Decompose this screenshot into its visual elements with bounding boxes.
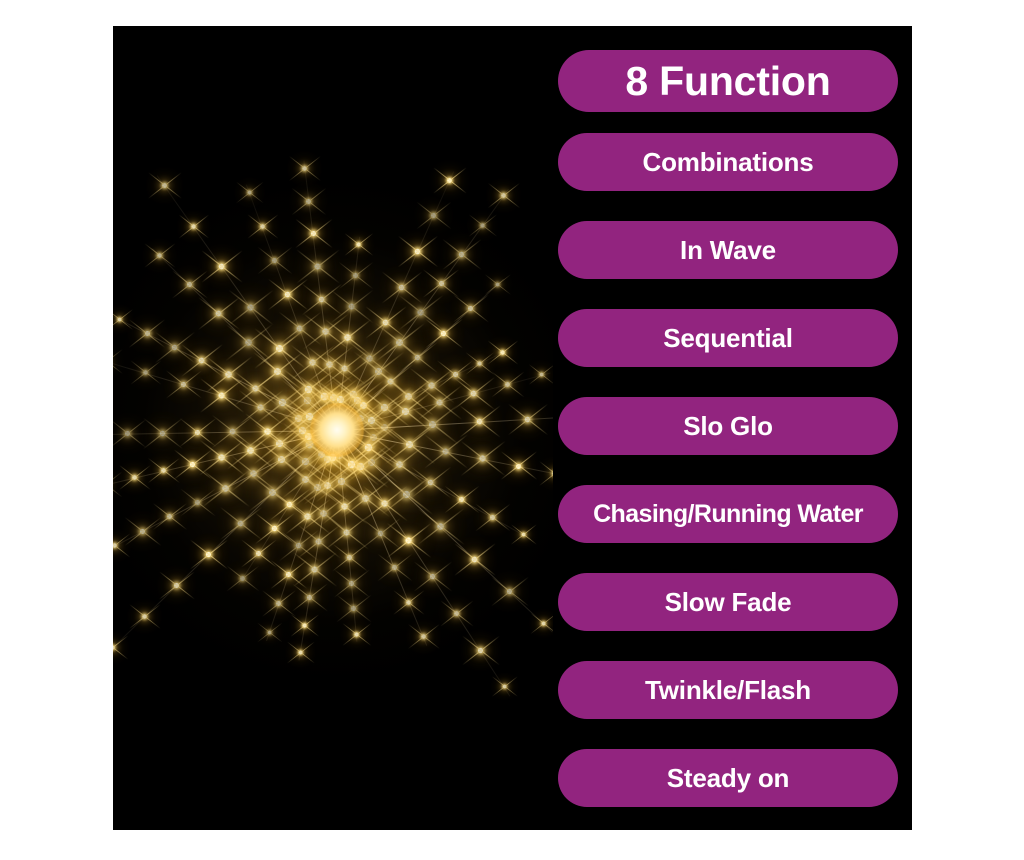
light-bulb bbox=[326, 361, 332, 367]
panel-title-badge: 8 Function bbox=[558, 50, 898, 112]
light-bulb bbox=[521, 533, 525, 537]
light-bulb bbox=[257, 404, 263, 410]
light-bulb bbox=[324, 482, 331, 489]
light-bulb bbox=[429, 382, 435, 388]
light-bulb bbox=[295, 543, 300, 548]
light-bulb bbox=[370, 434, 377, 441]
light-bulb bbox=[459, 252, 464, 257]
light-bulb bbox=[447, 178, 452, 183]
light-bulb bbox=[406, 441, 413, 448]
light-bulb bbox=[302, 476, 309, 483]
light-bulb bbox=[453, 372, 458, 377]
light-bulb bbox=[321, 392, 329, 400]
light-bulb bbox=[143, 371, 147, 375]
light-bulb bbox=[276, 601, 281, 606]
light-bulb bbox=[375, 368, 382, 375]
light-bulb bbox=[284, 292, 290, 298]
light-bulb bbox=[341, 503, 347, 509]
light-stage bbox=[113, 26, 553, 830]
light-bulb bbox=[310, 231, 315, 236]
light-bulb bbox=[357, 463, 365, 471]
light-bulb bbox=[478, 648, 483, 653]
light-bulb bbox=[250, 470, 256, 476]
light-bulb bbox=[125, 431, 130, 436]
light-bulb bbox=[344, 529, 350, 535]
light-bulb bbox=[245, 339, 252, 346]
light-bulb bbox=[320, 510, 326, 516]
light-bulb bbox=[338, 477, 345, 484]
light-bulb bbox=[240, 576, 245, 581]
light-ray bbox=[113, 359, 337, 431]
light-bulb bbox=[303, 623, 307, 627]
light-bulb bbox=[191, 224, 195, 228]
light-bulb bbox=[501, 350, 505, 354]
light-bulb bbox=[368, 459, 375, 466]
light-bulb bbox=[307, 595, 312, 600]
light-bulb bbox=[271, 526, 276, 531]
light-bulb bbox=[524, 416, 530, 422]
light-bulb bbox=[468, 306, 473, 311]
light-bulb bbox=[256, 551, 261, 556]
light-bulb bbox=[298, 427, 306, 435]
light-bulb bbox=[309, 359, 315, 365]
light-bulb bbox=[472, 556, 478, 562]
light-bulb bbox=[303, 166, 307, 170]
mode-button-in-wave[interactable]: In Wave bbox=[558, 221, 898, 279]
light-bulb bbox=[140, 529, 145, 534]
light-bulb bbox=[264, 428, 270, 434]
light-bulb bbox=[349, 303, 355, 309]
light-bulb bbox=[143, 614, 147, 618]
light-bulb bbox=[477, 361, 481, 365]
light-bulb bbox=[162, 183, 167, 188]
light-bulb bbox=[269, 489, 276, 496]
light-bulb bbox=[260, 225, 264, 229]
light-bulb bbox=[113, 544, 116, 548]
light-bulb bbox=[314, 264, 320, 270]
light-bulb bbox=[351, 606, 356, 611]
light-bulb bbox=[436, 399, 442, 405]
light-bulb bbox=[439, 281, 444, 286]
light-bulb bbox=[415, 249, 421, 255]
light-bulb bbox=[218, 454, 224, 460]
light-bulb bbox=[305, 514, 311, 520]
light-bulb bbox=[382, 320, 388, 326]
light-bulb bbox=[219, 393, 225, 399]
light-bulb bbox=[471, 390, 477, 396]
light-bulb bbox=[405, 393, 412, 400]
light-bulb bbox=[399, 284, 405, 290]
mode-button-slow-fade[interactable]: Slow Fade bbox=[558, 573, 898, 631]
light-bulb bbox=[295, 415, 302, 422]
light-bulb bbox=[507, 589, 512, 594]
light-bulb bbox=[392, 565, 397, 570]
light-bulb bbox=[354, 632, 358, 636]
light-bulb bbox=[396, 462, 402, 468]
light-bulb bbox=[377, 530, 382, 535]
light-bulb bbox=[429, 421, 436, 428]
mode-button-slo-glo[interactable]: Slo Glo bbox=[558, 397, 898, 455]
mode-button-twinkle-flash[interactable]: Twinkle/Flash bbox=[558, 661, 898, 719]
light-bulb bbox=[187, 282, 192, 287]
function-mode-panel: 8 Function CombinationsIn WaveSequential… bbox=[558, 26, 912, 830]
light-bulb bbox=[477, 419, 483, 425]
light-bulb bbox=[275, 440, 282, 447]
light-bulb bbox=[279, 399, 287, 407]
light-bulb bbox=[181, 382, 186, 387]
light-bulb bbox=[286, 572, 291, 577]
light-bulb bbox=[360, 402, 367, 409]
light-bulb bbox=[443, 449, 449, 455]
firework-light-photo bbox=[113, 26, 553, 830]
light-bulb bbox=[382, 500, 388, 506]
light-bulb bbox=[407, 600, 411, 604]
light-bulb bbox=[168, 515, 173, 520]
light-bulb bbox=[387, 379, 393, 385]
light-bulb bbox=[490, 515, 495, 520]
light-bulb bbox=[366, 355, 372, 361]
light-bulb bbox=[316, 538, 322, 544]
light-bulb bbox=[402, 408, 409, 415]
mode-button-sequential[interactable]: Sequential bbox=[558, 309, 898, 367]
light-bulb bbox=[276, 345, 283, 352]
light-bulb bbox=[349, 581, 354, 586]
light-bulb bbox=[481, 223, 485, 227]
light-bulb bbox=[341, 365, 347, 371]
light-bulb bbox=[248, 191, 252, 195]
light-bulb bbox=[314, 484, 321, 491]
mode-button-steady-on[interactable]: Steady on bbox=[558, 749, 898, 807]
light-bulb bbox=[348, 461, 355, 468]
light-bulb bbox=[171, 344, 177, 350]
light-bulb bbox=[206, 551, 211, 556]
light-bulb bbox=[364, 444, 372, 452]
light-bulb bbox=[174, 583, 179, 588]
light-bulb bbox=[301, 457, 308, 464]
light-bulb bbox=[381, 404, 388, 411]
light-bulb bbox=[247, 447, 254, 454]
light-bulb bbox=[195, 500, 200, 505]
light-bulb bbox=[311, 566, 317, 572]
light-bulb bbox=[459, 497, 464, 502]
light-bulb bbox=[353, 273, 358, 278]
product-image-card: 8 Function CombinationsIn WaveSequential… bbox=[113, 26, 912, 830]
light-bulb bbox=[160, 430, 165, 435]
light-bulb bbox=[222, 485, 229, 492]
light-bulb bbox=[516, 464, 521, 469]
light-bulb bbox=[396, 339, 403, 346]
light-bulb bbox=[357, 242, 361, 246]
light-bulb bbox=[347, 555, 352, 560]
light-bulb bbox=[345, 334, 351, 340]
light-bulb bbox=[421, 634, 425, 638]
light-bulb bbox=[157, 253, 161, 257]
light-ray bbox=[337, 430, 511, 697]
light-bulb bbox=[318, 296, 324, 302]
light-bulb bbox=[161, 469, 165, 473]
light-bulb bbox=[414, 355, 419, 360]
light-bulb bbox=[322, 329, 328, 335]
light-bulb bbox=[540, 373, 544, 377]
mode-button-chasing-running-water[interactable]: Chasing/Running Water bbox=[558, 485, 898, 543]
light-bulb bbox=[132, 475, 136, 479]
light-bulb bbox=[330, 394, 337, 401]
light-bulb bbox=[298, 651, 302, 655]
light-bulb bbox=[324, 455, 331, 462]
light-bulb bbox=[229, 429, 235, 435]
light-bulb bbox=[506, 382, 511, 387]
light-core-icon bbox=[310, 403, 364, 457]
light-bulb bbox=[417, 310, 423, 316]
light-bulb bbox=[267, 631, 270, 634]
light-bulb bbox=[287, 501, 293, 507]
light-bulb bbox=[406, 537, 412, 543]
light-bulb bbox=[195, 430, 200, 435]
light-bulb bbox=[190, 461, 195, 466]
light-bulb bbox=[381, 424, 388, 431]
light-bulb bbox=[431, 213, 436, 218]
light-bulb bbox=[454, 611, 459, 616]
light-bulb bbox=[337, 395, 344, 402]
light-bulb bbox=[427, 479, 433, 485]
light-bulb bbox=[479, 456, 485, 462]
light-bulb bbox=[441, 330, 446, 335]
light-bulb bbox=[297, 325, 303, 331]
light-bulb bbox=[402, 491, 409, 498]
mode-button-combinations[interactable]: Combinations bbox=[558, 133, 898, 191]
light-bulb bbox=[278, 455, 285, 462]
light-bulb bbox=[307, 199, 312, 204]
light-bulb bbox=[238, 520, 244, 526]
light-bulb bbox=[304, 385, 311, 392]
light-bulb bbox=[145, 331, 150, 336]
light-bulb bbox=[495, 283, 499, 287]
light-bulb bbox=[501, 193, 505, 197]
light-bulb bbox=[368, 417, 375, 424]
light-bulb bbox=[272, 258, 277, 263]
light-bulb bbox=[362, 496, 369, 503]
